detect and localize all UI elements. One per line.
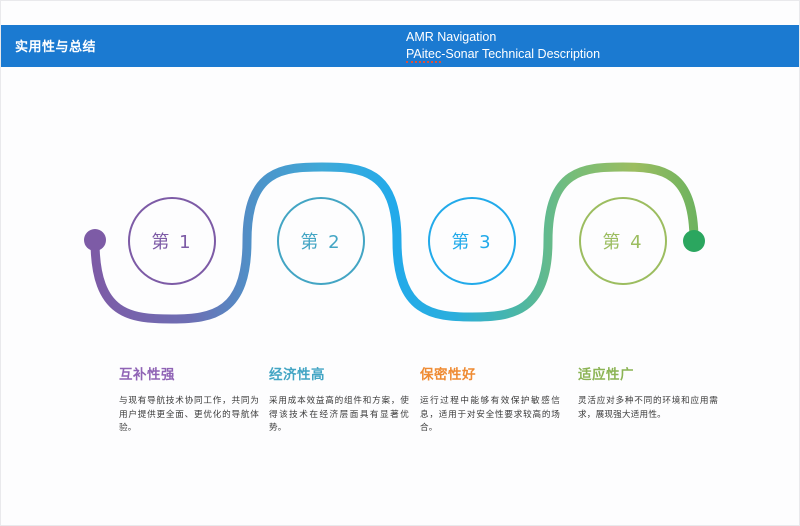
- caption-column-2: 经济性高 采用成本效益高的组件和方案，使得该技术在经济层面具有显著优势。: [269, 363, 409, 435]
- step-node-2-label: 第 2: [300, 228, 341, 254]
- header-band: 实用性与总结 AMR Navigation PAitec-Sonar Techn…: [1, 25, 800, 67]
- start-dot: [84, 229, 106, 251]
- caption-body-3: 运行过程中能够有效保护敏感信息，适用于对安全性要求较高的场合。: [420, 394, 560, 435]
- header-subtitle-line-2-rest: -Sonar Technical Description: [441, 47, 600, 61]
- s-curve-diagram: [1, 141, 800, 341]
- slide-canvas: 实用性与总结 AMR Navigation PAitec-Sonar Techn…: [0, 0, 800, 526]
- caption-column-3: 保密性好 运行过程中能够有效保护敏感信息，适用于对安全性要求较高的场合。: [420, 363, 560, 435]
- caption-column-1: 互补性强 与现有导航技术协同工作，共同为用户提供更全面、更优化的导航体验。: [119, 363, 259, 435]
- caption-body-2: 采用成本效益高的组件和方案，使得该技术在经济层面具有显著优势。: [269, 394, 409, 435]
- step-node-1[interactable]: 第 1: [128, 197, 216, 285]
- header-subtitle-line-1: AMR Navigation: [406, 29, 786, 46]
- caption-body-1: 与现有导航技术协同工作，共同为用户提供更全面、更优化的导航体验。: [119, 394, 259, 435]
- caption-title-4: 适应性广: [578, 363, 718, 383]
- header-subtitle-line-2: PAitec-Sonar Technical Description: [406, 46, 786, 63]
- end-dot: [683, 230, 705, 252]
- caption-row: 互补性强 与现有导航技术协同工作，共同为用户提供更全面、更优化的导航体验。 经济…: [1, 363, 800, 463]
- step-node-2[interactable]: 第 2: [277, 197, 365, 285]
- step-node-3-label: 第 3: [451, 228, 492, 254]
- caption-column-4: 适应性广 灵活应对多种不同的环境和应用需求，展现强大适用性。: [578, 363, 718, 421]
- step-node-1-label: 第 1: [151, 228, 192, 254]
- header-subtitle-block: AMR Navigation PAitec-Sonar Technical De…: [406, 29, 786, 63]
- misspelled-word: PAitec: [406, 47, 441, 63]
- step-node-4[interactable]: 第 4: [579, 197, 667, 285]
- caption-title-1: 互补性强: [119, 363, 259, 383]
- step-node-3[interactable]: 第 3: [428, 197, 516, 285]
- caption-title-2: 经济性高: [269, 363, 409, 383]
- caption-title-3: 保密性好: [420, 363, 560, 383]
- caption-body-4: 灵活应对多种不同的环境和应用需求，展现强大适用性。: [578, 394, 718, 421]
- page-title: 实用性与总结: [15, 36, 96, 55]
- step-node-4-label: 第 4: [602, 228, 643, 254]
